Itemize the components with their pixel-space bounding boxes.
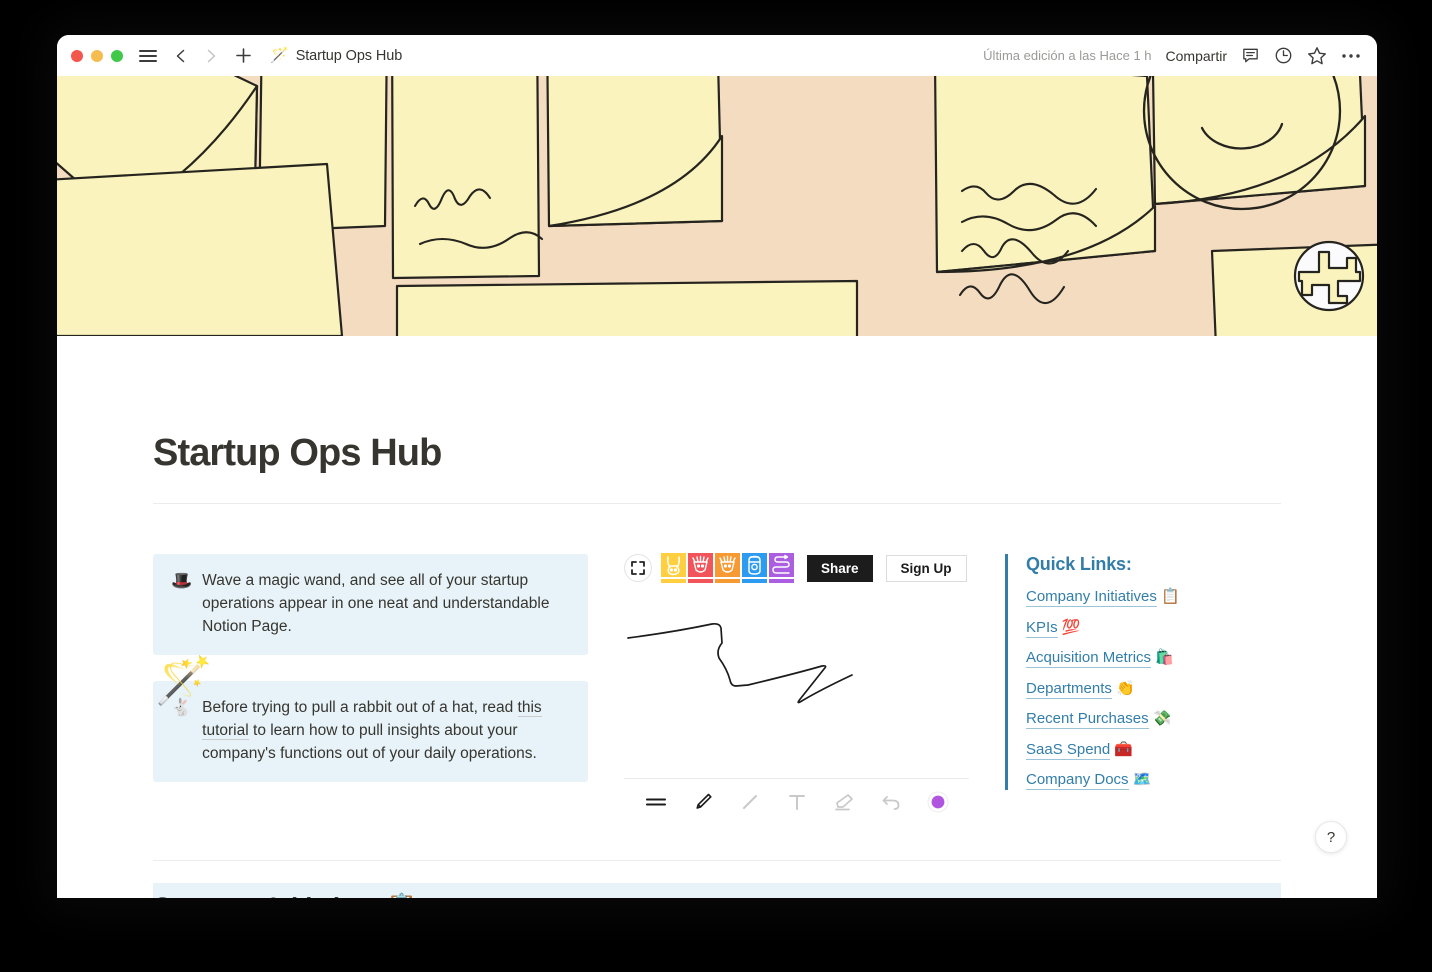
section-heading-company-initiatives[interactable]: Company Initiatives 📋 bbox=[153, 883, 1281, 898]
quick-link-kpis[interactable]: KPIs 💯 bbox=[1026, 618, 1270, 638]
callout-text-before: Before trying to pull a rabbit out of a … bbox=[202, 699, 517, 716]
clipboard-icon: 📋 bbox=[1161, 588, 1180, 605]
callout-text: Wave a magic wand, and see all of your s… bbox=[202, 570, 572, 639]
star-icon[interactable] bbox=[1307, 46, 1327, 66]
page-body: 🪄 Startup Ops Hub 🎩 Wave a magic wand, a… bbox=[57, 432, 1377, 898]
clock-icon[interactable] bbox=[1274, 46, 1293, 65]
comment-icon[interactable] bbox=[1241, 46, 1260, 65]
hamburger-icon[interactable] bbox=[139, 50, 157, 62]
undo-tool[interactable] bbox=[867, 779, 914, 825]
quick-links-title: Quick Links: bbox=[1026, 554, 1270, 575]
doc-emoji: 🪄 bbox=[270, 48, 289, 63]
line-tool[interactable] bbox=[726, 779, 773, 825]
embed-signup-button[interactable]: Sign Up bbox=[886, 555, 967, 582]
plus-icon[interactable] bbox=[235, 47, 252, 64]
callout-tutorial[interactable]: 🐇 Before trying to pull a rabbit out of … bbox=[153, 681, 588, 782]
embed-share-button[interactable]: Share bbox=[807, 555, 873, 582]
rabbit-avatar[interactable] bbox=[661, 553, 686, 583]
app-window: 🪄 Startup Ops Hub Última edición a las H… bbox=[57, 35, 1377, 898]
quick-link-recent-purchases[interactable]: Recent Purchases 💸 bbox=[1026, 709, 1270, 729]
color-swatch-icon[interactable] bbox=[914, 779, 961, 825]
embed-header: Share Sign Up bbox=[624, 554, 969, 582]
content-columns: 🎩 Wave a magic wand, and see all of your… bbox=[153, 554, 1281, 824]
menu-tool[interactable] bbox=[632, 779, 679, 825]
user-sketch bbox=[624, 596, 969, 778]
toolbox-icon: 🧰 bbox=[1114, 741, 1133, 758]
hundred-points-icon: 💯 bbox=[1062, 619, 1081, 636]
eraser-tool[interactable] bbox=[820, 779, 867, 825]
text-tool[interactable] bbox=[773, 779, 820, 825]
world-map-icon: 🗺️ bbox=[1133, 771, 1152, 788]
goat-avatar[interactable] bbox=[688, 553, 713, 583]
maximize-window-button[interactable] bbox=[111, 50, 123, 62]
close-window-button[interactable] bbox=[71, 50, 83, 62]
page-cover-image[interactable] bbox=[57, 76, 1377, 336]
clipboard-icon: 📋 bbox=[386, 893, 417, 898]
money-with-wings-icon: 💸 bbox=[1153, 710, 1172, 727]
minimize-window-button[interactable] bbox=[91, 50, 103, 62]
drawing-embed[interactable]: Share Sign Up bbox=[624, 554, 969, 824]
title-divider bbox=[153, 503, 1281, 504]
snake-avatar[interactable] bbox=[769, 553, 794, 583]
pen-tool[interactable] bbox=[679, 779, 726, 825]
quick-link-label: Company Docs bbox=[1026, 771, 1129, 790]
title-bar: 🪄 Startup Ops Hub Última edición a las H… bbox=[57, 35, 1377, 76]
rabbit-icon: 🐇 bbox=[171, 697, 192, 766]
quick-link-label: Company Initiatives bbox=[1026, 588, 1157, 607]
chevron-left-icon[interactable] bbox=[173, 48, 189, 64]
callout-magic-wand[interactable]: 🎩 Wave a magic wand, and see all of your… bbox=[153, 554, 588, 655]
quick-link-company-initiatives[interactable]: Company Initiatives 📋 bbox=[1026, 587, 1270, 607]
quick-link-company-docs[interactable]: Company Docs 🗺️ bbox=[1026, 770, 1270, 790]
share-button[interactable]: Compartir bbox=[1166, 48, 1227, 64]
quick-link-label: KPIs bbox=[1026, 619, 1058, 638]
ellipsis-icon[interactable] bbox=[1341, 52, 1361, 60]
clapping-hands-icon: 👏 bbox=[1116, 680, 1135, 697]
quick-link-saas-spend[interactable]: SaaS Spend 🧰 bbox=[1026, 740, 1270, 760]
section-divider bbox=[153, 860, 1281, 861]
chevron-right-icon[interactable] bbox=[203, 48, 219, 64]
drawing-canvas[interactable] bbox=[624, 596, 969, 778]
screen-root: 🪄 Startup Ops Hub Última edición a las H… bbox=[0, 0, 1432, 972]
window-controls[interactable] bbox=[71, 50, 123, 62]
page-title[interactable]: Startup Ops Hub bbox=[153, 432, 1281, 475]
collaborator-avatars bbox=[661, 553, 794, 583]
shopping-bags-icon: 🛍️ bbox=[1155, 649, 1174, 666]
quick-link-label: Recent Purchases bbox=[1026, 710, 1149, 729]
callouts-column: 🎩 Wave a magic wand, and see all of your… bbox=[153, 554, 588, 782]
quick-link-label: Departments bbox=[1026, 680, 1112, 699]
title-bar-actions: Última edición a las Hace 1 h Compartir bbox=[983, 46, 1361, 66]
sticky-notes-illustration bbox=[57, 76, 1377, 336]
drawing-toolbar bbox=[624, 778, 969, 824]
doc-title: Startup Ops Hub bbox=[296, 48, 403, 64]
callout-text-after: to learn how to pull insights about your… bbox=[202, 722, 537, 762]
deer-avatar[interactable] bbox=[715, 553, 740, 583]
top-hat-icon: 🎩 bbox=[171, 570, 192, 639]
quick-links-block: Quick Links: Company Initiatives 📋 KPIs … bbox=[1005, 554, 1270, 790]
quick-link-label: Acquisition Metrics bbox=[1026, 649, 1151, 668]
section-heading-label: Company Initiatives bbox=[153, 893, 380, 898]
quick-link-label: SaaS Spend bbox=[1026, 741, 1110, 760]
quick-link-acquisition-metrics[interactable]: Acquisition Metrics 🛍️ bbox=[1026, 648, 1270, 668]
drawing-embed-column: Share Sign Up bbox=[624, 554, 969, 824]
penguin-avatar[interactable] bbox=[742, 553, 767, 583]
quick-links-column: Quick Links: Company Initiatives 📋 KPIs … bbox=[1005, 554, 1270, 801]
help-button[interactable]: ? bbox=[1315, 821, 1347, 853]
fullscreen-icon[interactable] bbox=[624, 554, 652, 582]
callout-text: Before trying to pull a rabbit out of a … bbox=[202, 697, 572, 766]
quick-link-departments[interactable]: Departments 👏 bbox=[1026, 679, 1270, 699]
last-edited-label: Última edición a las Hace 1 h bbox=[983, 48, 1151, 63]
page-icon-emoji[interactable]: 🪄 bbox=[155, 657, 212, 703]
